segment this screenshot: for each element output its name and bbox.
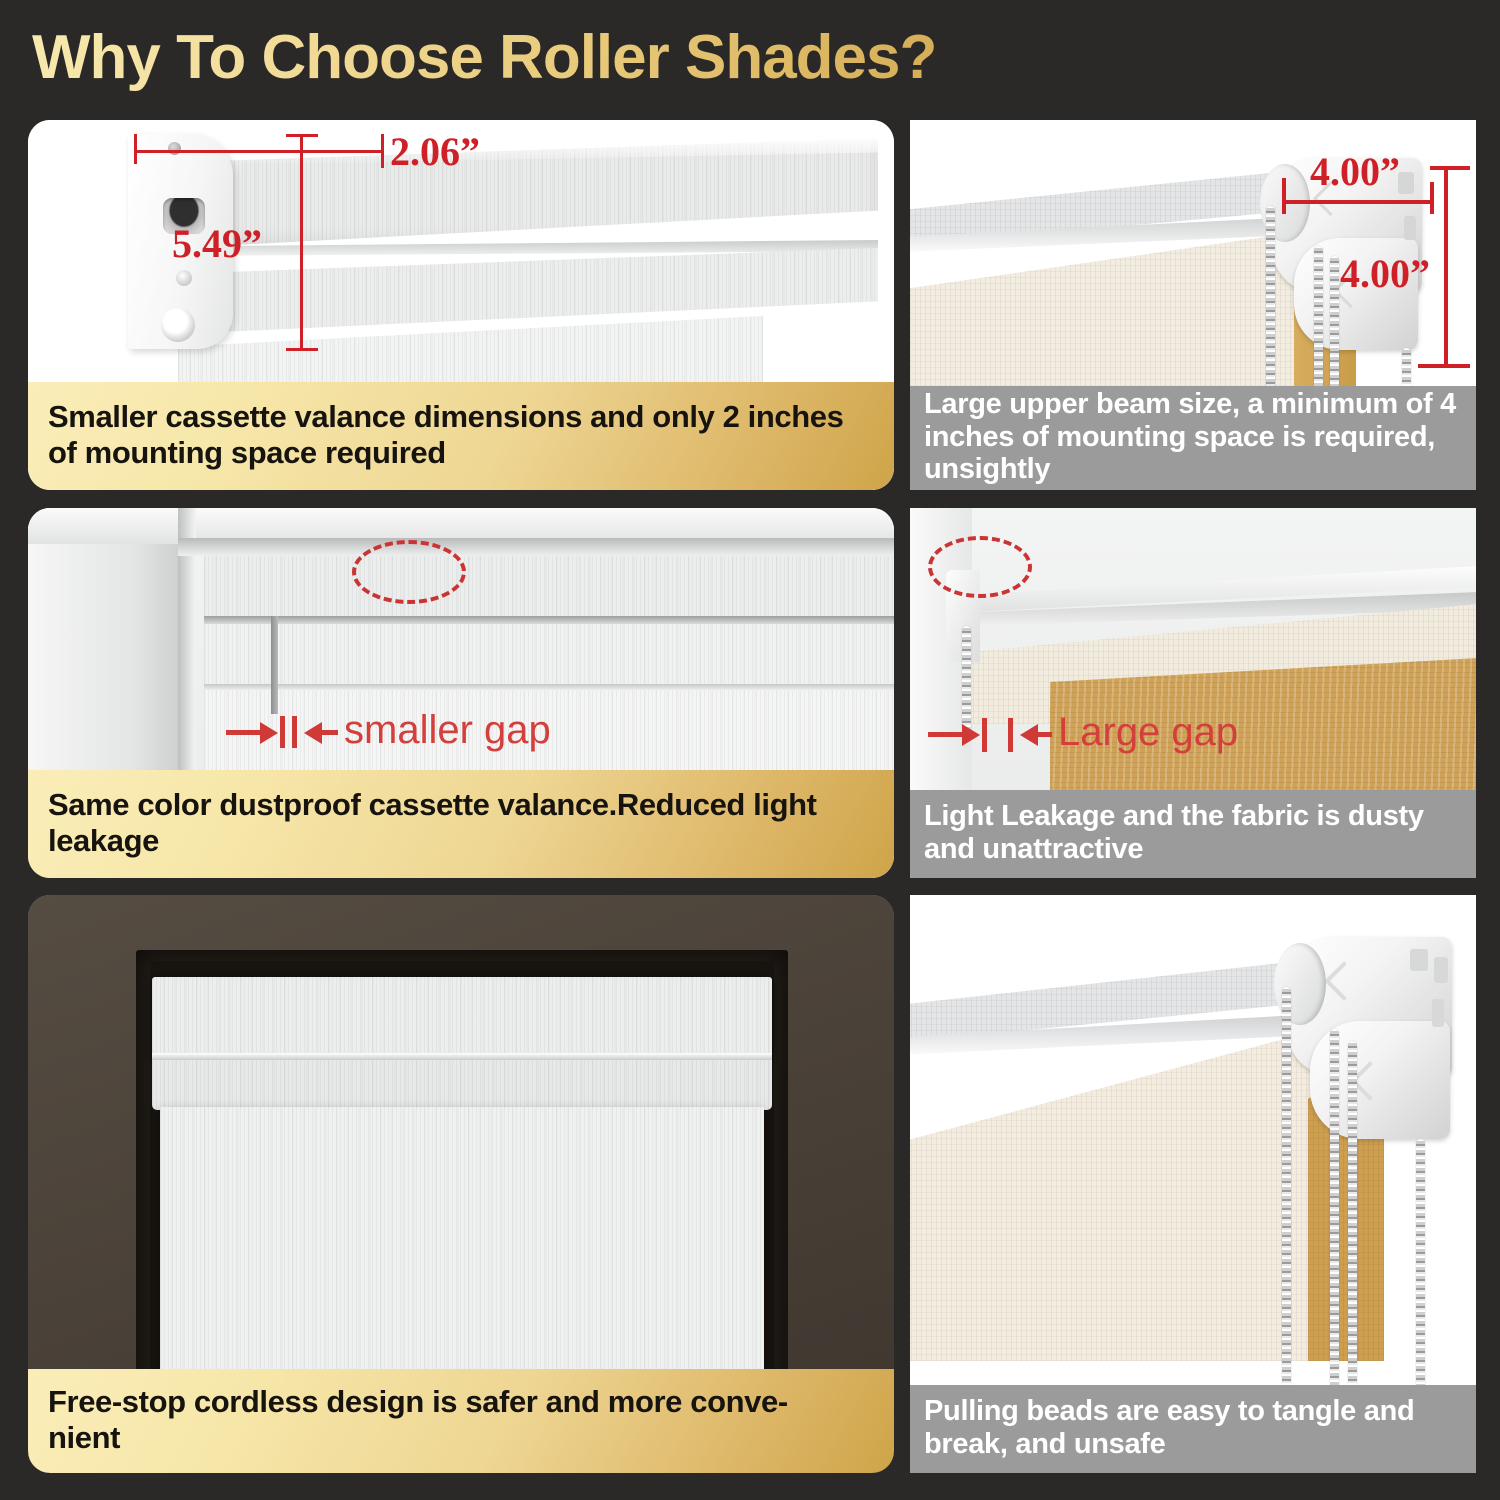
width-dimension-tick-right <box>381 134 384 168</box>
caption-text: Same color dustproof cassette valance.Re… <box>48 787 878 859</box>
gap-label: Large gap <box>1058 710 1238 755</box>
window-frame-left <box>28 508 178 808</box>
width-dimension-tick-right <box>1430 182 1434 214</box>
gap-highlight-ellipse <box>352 540 466 604</box>
cassette-valance-bottom <box>178 248 878 334</box>
window-frame-top-inner <box>178 538 894 556</box>
bracket-slot-icon-3 <box>1432 999 1444 1027</box>
height-dimension-line <box>1444 166 1448 368</box>
panel-caption-pro-cordless: Free-stop cordless design is safer and m… <box>28 1369 894 1473</box>
height-dimension-label: 4.00” <box>1340 250 1430 297</box>
panel-con-beam-size: 4.00” 4.00” Large upper beam size, a min… <box>910 120 1476 490</box>
cassette-valance <box>204 556 894 622</box>
gap-arrow-left-head-icon <box>260 722 278 744</box>
valance-gap-line <box>204 616 894 624</box>
gap-tick-right <box>1008 718 1013 752</box>
shade-fabric-upper <box>204 624 894 688</box>
gap-tick-right <box>292 716 297 748</box>
caption-text: Light Leakage and the fabric is dusty an… <box>924 800 1466 866</box>
height-dimension-tick-top <box>1430 166 1470 170</box>
page-title: Why To Choose Roller Shades? <box>32 22 1332 94</box>
gap-arrow-left-head-icon <box>962 724 980 746</box>
valance-lower-lip <box>152 1060 772 1110</box>
panel-pro-cassette-size: 2.06” 5.49” Smaller cassette valance dim… <box>28 120 894 490</box>
panel-pro-light-leakage: smaller gap Same color dustproof cassett… <box>28 508 894 878</box>
shade-fabric <box>910 1031 1314 1361</box>
bracket-slot-icon-2 <box>1434 957 1448 983</box>
panel-caption-con-light-leakage: Light Leakage and the fabric is dusty an… <box>910 790 1476 878</box>
width-dimension-line <box>134 150 384 153</box>
bead-chain <box>1330 256 1339 406</box>
valance-seam <box>152 1053 772 1060</box>
caption-text: Free-stop cordless design is safer and m… <box>48 1384 878 1456</box>
gap-marker-dark <box>271 616 278 714</box>
bead-chain <box>1282 987 1291 1391</box>
shade-fabric <box>910 232 1300 392</box>
caption-text: Large upper beam size, a minimum of 4 in… <box>924 388 1466 486</box>
caption-text: Smaller cassette valance dimensions and … <box>48 399 878 471</box>
width-dimension-tick-left <box>134 134 137 164</box>
bead-chain <box>1330 1029 1339 1391</box>
end-cap-screw-icon <box>176 270 192 286</box>
gap-arrow-right-icon <box>1038 732 1052 737</box>
height-dimension-label: 5.49” <box>172 220 262 267</box>
bead-chain <box>1314 246 1323 406</box>
panel-pro-cordless: Free-stop cordless design is safer and m… <box>28 895 894 1473</box>
height-dimension-line <box>300 134 303 350</box>
gap-label: smaller gap <box>344 708 551 753</box>
end-cap-top-screw-icon <box>168 142 181 155</box>
panel-con-light-leakage: Large gap Light Leakage and the fabric i… <box>910 508 1476 878</box>
width-dimension-line <box>1282 200 1434 204</box>
gap-highlight-ellipse <box>928 536 1032 598</box>
gap-tick-left <box>982 718 987 752</box>
gap-arrow-right-head-icon <box>304 722 322 744</box>
panel-caption-pro-light-leakage: Same color dustproof cassette valance.Re… <box>28 770 894 878</box>
infographic-root: Why To Choose Roller Shades? 2.06” <box>0 0 1500 1500</box>
height-dimension-tick-top <box>286 134 318 137</box>
bead-chain <box>1348 1041 1357 1391</box>
width-dimension-tick-left <box>1282 178 1286 214</box>
bracket-slot-icon-2 <box>1404 216 1416 240</box>
panel-caption-con-beam-size: Large upper beam size, a minimum of 4 in… <box>910 386 1476 490</box>
panel-caption-con-beads: Pulling beads are easy to tangle and bre… <box>910 1385 1476 1473</box>
panel-caption-pro-cassette-size: Smaller cassette valance dimensions and … <box>28 382 894 490</box>
bead-chain <box>1416 1139 1425 1391</box>
caption-line-2: nient <box>48 1420 120 1455</box>
caption-text: Pulling beads are easy to tangle and bre… <box>924 1395 1466 1461</box>
bead-chain <box>1266 206 1275 406</box>
bead-chain <box>962 626 971 732</box>
bracket-slot-icon <box>1410 949 1428 971</box>
bracket-slot-icon <box>1398 172 1414 194</box>
height-dimension-tick-bottom <box>286 348 318 351</box>
height-dimension-tick-bottom <box>1418 364 1470 368</box>
width-dimension-label: 4.00” <box>1310 148 1400 195</box>
gap-arrow-right-head-icon <box>1020 724 1038 746</box>
end-cap-bottom-screw-icon <box>161 308 195 342</box>
gap-arrow-right-icon <box>322 730 338 735</box>
caption-line-1: Free-stop cordless design is safer and m… <box>48 1384 788 1419</box>
width-dimension-label: 2.06” <box>390 128 480 175</box>
panel-con-beads: Pulling beads are easy to tangle and bre… <box>910 895 1476 1473</box>
gap-tick-left <box>280 716 285 748</box>
cassette-valance <box>152 977 772 1057</box>
